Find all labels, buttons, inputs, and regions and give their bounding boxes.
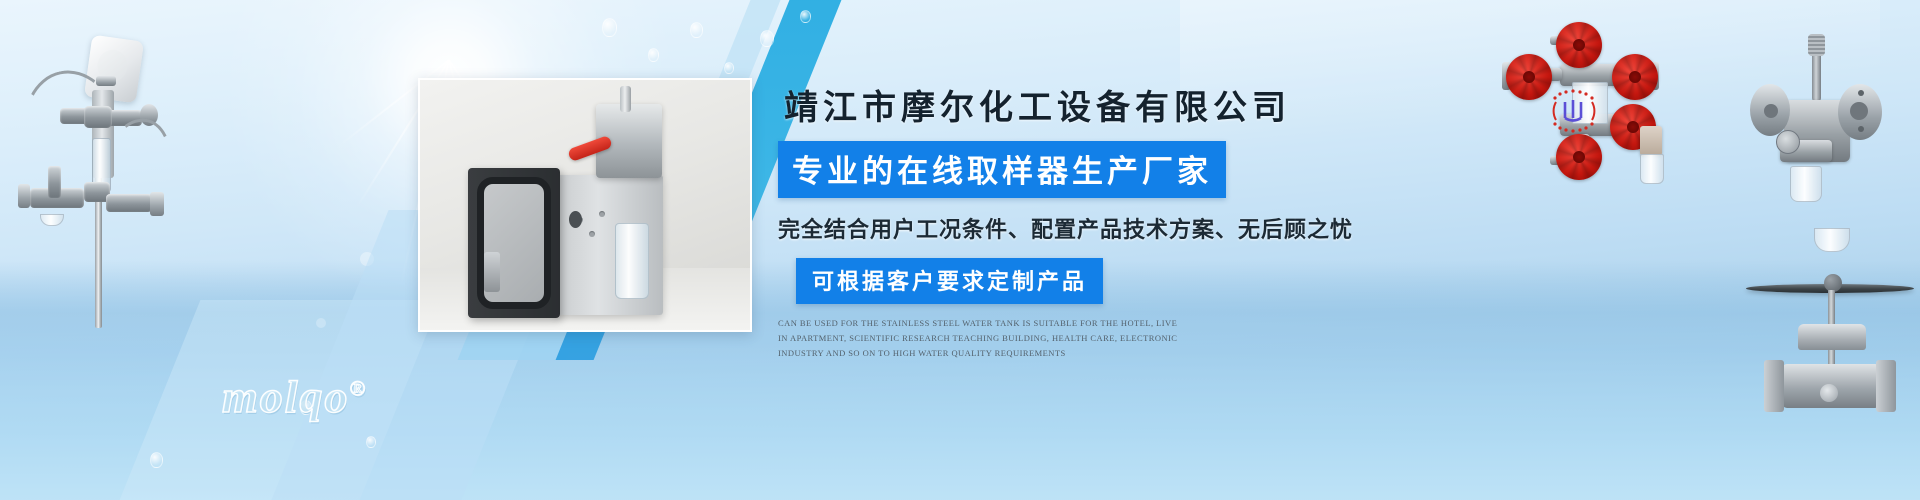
door-latch <box>484 252 500 292</box>
sample-cup <box>1814 228 1850 252</box>
sample-cup <box>40 214 64 226</box>
handwheel-hub <box>1573 39 1585 51</box>
tagline-badge: 专业的在线取样器生产厂家 <box>778 141 1226 198</box>
brand-watermark: molqo® <box>222 370 367 423</box>
water-droplet-icon <box>800 10 811 23</box>
handwheel-hub <box>1523 71 1535 83</box>
lever-grip <box>1808 34 1825 56</box>
flange <box>1764 360 1784 412</box>
valve-bonnet <box>1798 324 1866 350</box>
cross-valve-assembly <box>1484 30 1694 170</box>
red-handwheel-icon <box>1556 22 1602 68</box>
customization-badge: 可根据客户要求定制产品 <box>796 258 1103 304</box>
cabinet-bolt <box>599 211 605 217</box>
cabinet-port <box>569 211 582 228</box>
red-handwheel-icon <box>1556 134 1602 180</box>
nameplate-icon <box>1776 130 1800 154</box>
flange <box>1876 360 1896 412</box>
handwheel-hub <box>1629 71 1641 83</box>
company-logo-stamp-icon <box>1546 86 1602 136</box>
subline-text: 完全结合用户工况条件、配置产品技术方案、无后顾之忧 <box>778 212 1418 244</box>
flange-bolt-hole <box>1858 126 1864 132</box>
watermark-text: molqo <box>222 371 350 422</box>
water-droplet-icon <box>760 30 774 47</box>
cabinet-bolt <box>589 231 595 237</box>
flange <box>18 184 30 208</box>
sampling-cabinet <box>555 175 663 315</box>
flange-bolt-hole <box>1858 90 1864 96</box>
sample-bottle <box>615 223 649 299</box>
sample-bottle <box>1640 154 1664 184</box>
handwheel-hub <box>1573 151 1585 163</box>
english-description: CAN BE USED FOR THE STAINLESS STEEL WATE… <box>778 316 1186 361</box>
registered-mark-icon: ® <box>350 377 368 401</box>
company-name: 靖江市摩尔化工设备有限公司 <box>784 80 1418 129</box>
cabinet-door <box>468 168 560 318</box>
water-droplet-icon <box>648 48 659 62</box>
valve-stem <box>620 86 631 112</box>
copy-block: 靖江市摩尔化工设备有限公司 专业的在线取样器生产厂家 完全结合用户工况条件、配置… <box>778 70 1418 361</box>
main-product-photo <box>418 78 752 332</box>
water-droplet-icon <box>602 18 617 37</box>
flange-bore <box>1850 102 1868 120</box>
handwheel-hub <box>1627 121 1639 133</box>
sample-bottle <box>1790 166 1822 202</box>
water-droplet-icon <box>724 62 734 74</box>
lever-valve-illustration <box>1724 28 1914 208</box>
water-droplet-icon <box>366 436 376 448</box>
water-droplet-icon <box>690 22 703 38</box>
red-handwheel-icon <box>1612 54 1658 100</box>
water-droplet-icon <box>150 452 163 468</box>
nameplate-icon <box>1820 384 1838 402</box>
flange-bore <box>1764 104 1778 118</box>
outlet-fitting <box>1640 126 1662 156</box>
gate-valve-illustration <box>1746 228 1916 398</box>
left-sampler-illustration <box>0 18 190 318</box>
promotional-banner: 靖江市摩尔化工设备有限公司 专业的在线取样器生产厂家 完全结合用户工况条件、配置… <box>0 0 1920 500</box>
